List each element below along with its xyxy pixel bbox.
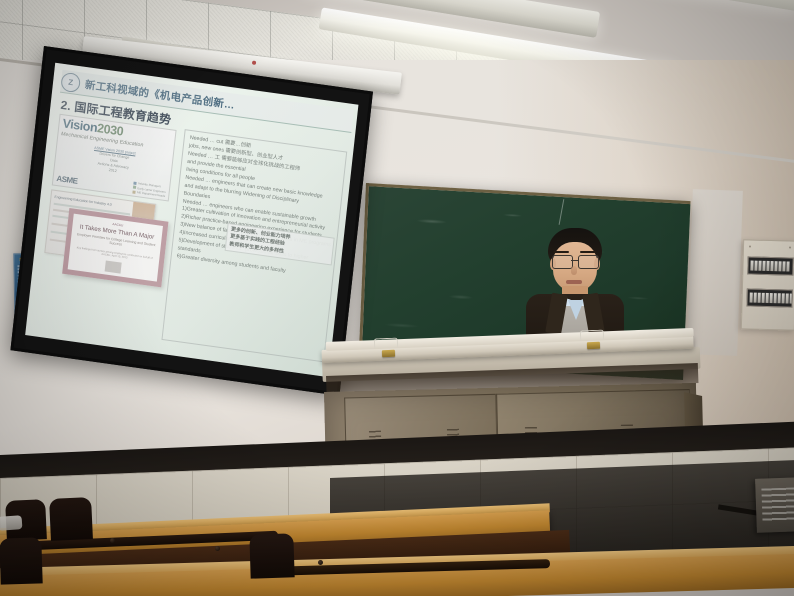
doc-front-brand: AAC&U — [112, 222, 123, 227]
desk-bolt — [215, 546, 220, 551]
seat-back — [0, 537, 43, 584]
lid-handle[interactable] — [580, 330, 604, 341]
breaker-row[interactable] — [747, 256, 793, 275]
plastic-bag — [0, 515, 22, 531]
slide-text-panel: Needed … cut 需要…创新 jobs, new ones 需要创新型、… — [161, 129, 347, 362]
vision2030-cover-image: Vision2030 Mechanical Engineering Educat… — [52, 114, 177, 202]
screen-surface: Z 新工科视域的《机电产品创新… 2. 国际工程教育趋势 Vision2030 … — [25, 63, 358, 377]
floor-speaker — [755, 477, 794, 533]
document-thumbnails: Engineering Education for Industry 4.0 A… — [42, 189, 172, 287]
lid-hinge — [587, 342, 600, 349]
breaker-panel[interactable] — [741, 239, 794, 330]
desk-bolt — [318, 560, 323, 565]
mouth — [566, 280, 582, 284]
lens — [578, 255, 599, 269]
vision2030-year: 2012 — [109, 168, 117, 173]
doc-front-placeholder — [105, 261, 122, 274]
wall-side-panel — [687, 189, 743, 356]
speaker-grill — [761, 487, 794, 522]
glasses-bridge — [571, 260, 578, 261]
projection-screen[interactable]: Z 新工科视域的《机电产品创新… 2. 国际工程教育趋势 Vision2030 … — [10, 46, 373, 396]
nose — [571, 266, 577, 275]
desk-bolt — [110, 538, 115, 543]
presentation-slide: Z 新工科视域的《机电产品创新… 2. 国际工程教育趋势 Vision2030 … — [25, 63, 358, 377]
roller-indicator-dot — [252, 61, 256, 65]
it-takes-more-than-a-major-document: AAC&U It Takes More Than A Major Employe… — [62, 208, 168, 287]
ceiling-light-fixture — [560, 0, 794, 11]
lecture-hall-photo: 学生行为规范 Z 新工科视域的《机电产品创新… 2. 国际工程教育趋势 — [0, 0, 794, 596]
university-logo-icon: Z — [60, 71, 81, 92]
lid-handle[interactable] — [374, 338, 398, 349]
slide-left-column: Vision2030 Mechanical Engineering Educat… — [42, 114, 178, 288]
panel-screw — [749, 245, 751, 247]
lid-hinge — [382, 350, 395, 357]
lens — [552, 255, 573, 269]
breaker-row[interactable] — [746, 288, 792, 307]
seat-back — [249, 533, 294, 578]
panel-screw — [789, 247, 791, 249]
seat-back — [49, 497, 93, 541]
breaker-switches[interactable] — [748, 260, 789, 271]
asme-logo: ASME — [56, 174, 78, 186]
breaker-switches[interactable] — [748, 292, 793, 303]
